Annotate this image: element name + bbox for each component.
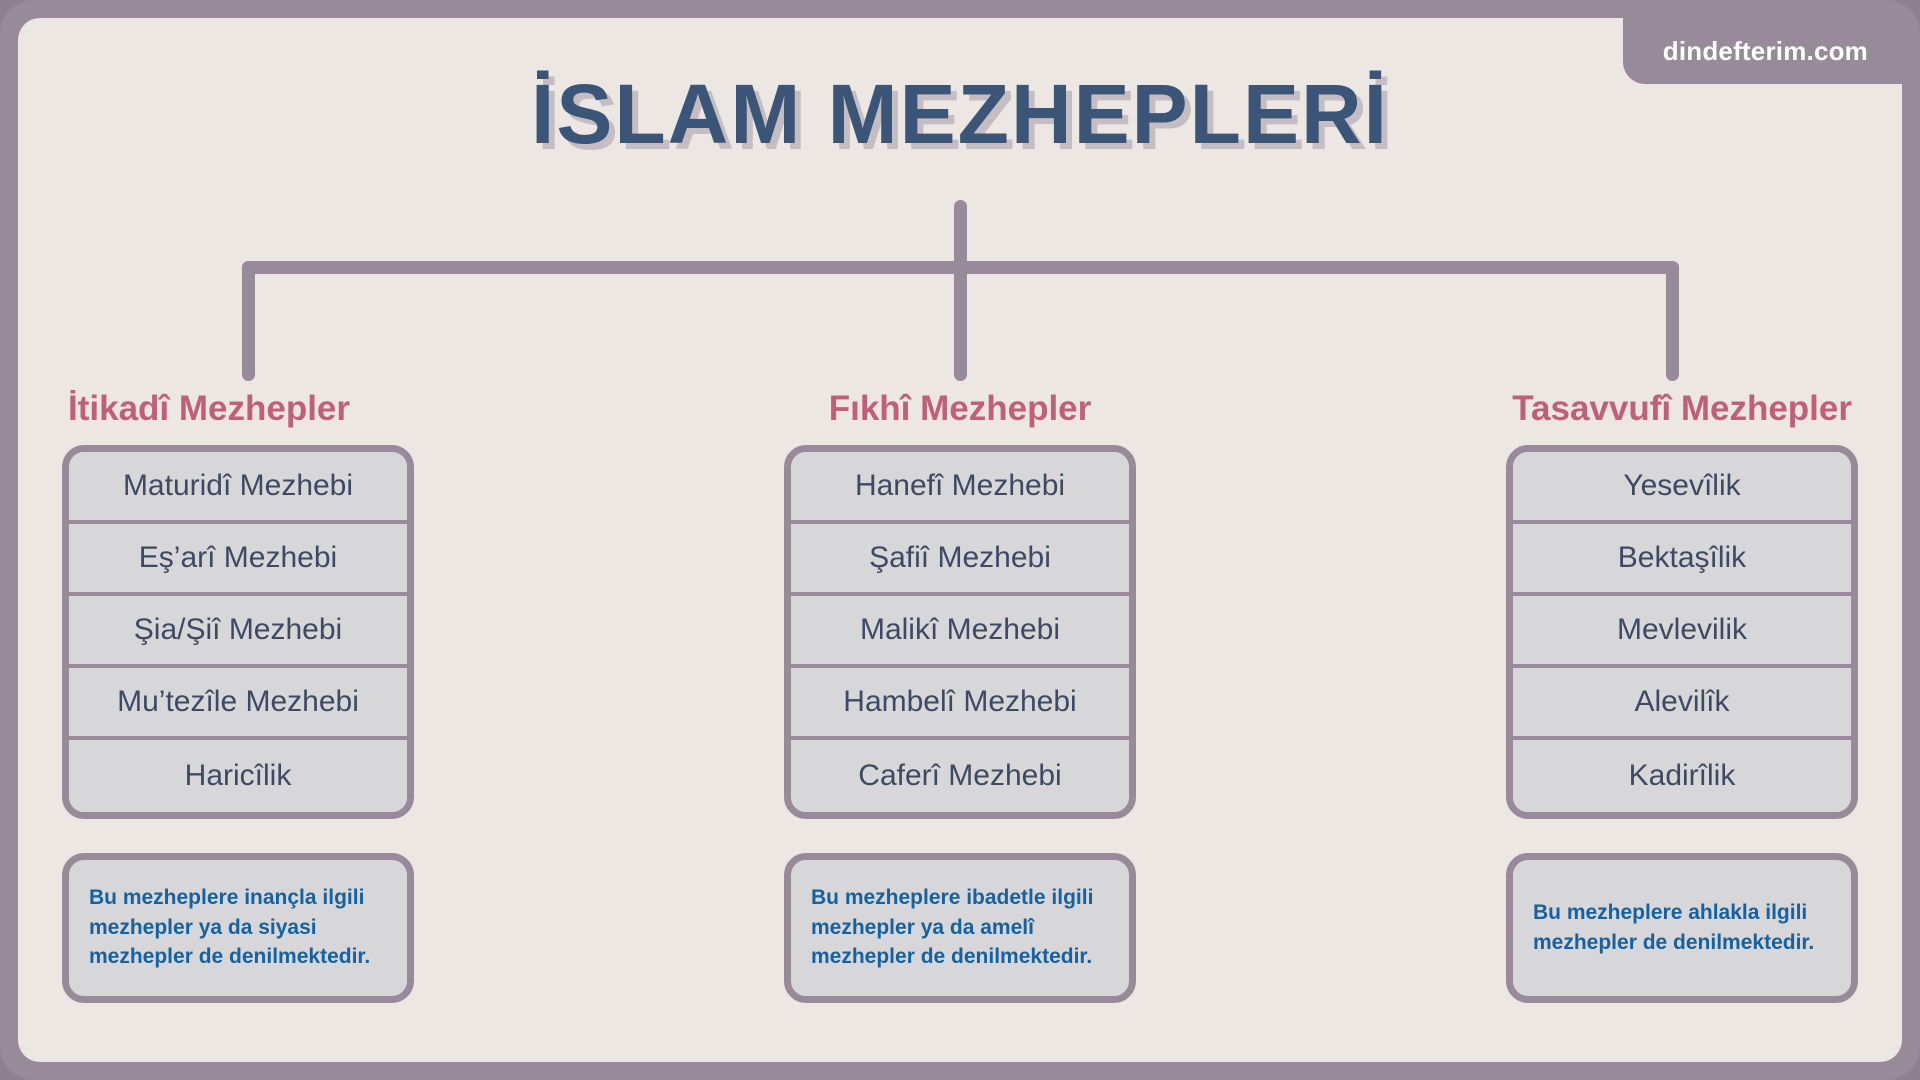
connector-drop-center: [954, 261, 967, 381]
list-item[interactable]: Şafiî Mezhebi: [791, 524, 1129, 596]
note-text: Bu mezheplere ibadetle ilgili mezhepler …: [811, 883, 1109, 972]
list-item[interactable]: Yesevîlik: [1513, 452, 1851, 524]
watermark-badge: dindefterim.com: [1623, 18, 1902, 84]
note-text: Bu mezheplere inançla ilgili mezhepler y…: [89, 883, 387, 972]
list-card-itikadi: Maturidî Mezhebi Eş’arî Mezhebi Şia/Şiî …: [62, 445, 414, 819]
list-item[interactable]: Bektaşîlik: [1513, 524, 1851, 596]
list-item[interactable]: Haricîlik: [69, 740, 407, 812]
note-card-itikadi: Bu mezheplere inançla ilgili mezhepler y…: [62, 853, 414, 1003]
list-item[interactable]: Maturidî Mezhebi: [69, 452, 407, 524]
list-item[interactable]: Hambelî Mezhebi: [791, 668, 1129, 740]
note-text: Bu mezheplere ahlakla ilgili mezhepler d…: [1533, 898, 1831, 958]
poster-frame: dindefterim.com İSLAM MEZHEPLERİ İtikadî…: [0, 0, 1920, 1080]
list-card-fikhi: Hanefî Mezhebi Şafiî Mezhebi Malikî Mezh…: [784, 445, 1136, 819]
watermark-label: dindefterim.com: [1663, 36, 1868, 67]
column-tasavvufi: Tasavvufî Mezhepler Yesevîlik Bektaşîlik…: [1500, 390, 1858, 1003]
column-fikhi: Fıkhî Mezhepler Hanefî Mezhebi Şafiî Mez…: [781, 390, 1139, 1003]
list-item[interactable]: Caferî Mezhebi: [791, 740, 1129, 812]
page-title: İSLAM MEZHEPLERİ: [18, 66, 1902, 163]
note-card-tasavvufi: Bu mezheplere ahlakla ilgili mezhepler d…: [1506, 853, 1858, 1003]
list-item[interactable]: Eş’arî Mezhebi: [69, 524, 407, 596]
column-header-tasavvufi: Tasavvufî Mezhepler: [1512, 390, 1852, 429]
list-item[interactable]: Şia/Şiî Mezhebi: [69, 596, 407, 668]
list-item[interactable]: Kadirîlik: [1513, 740, 1851, 812]
connector-drop-left: [242, 261, 255, 381]
list-card-tasavvufi: Yesevîlik Bektaşîlik Mevlevilik Alevilîk…: [1506, 445, 1858, 819]
column-itikadi: İtikadî Mezhepler Maturidî Mezhebi Eş’ar…: [62, 390, 420, 1003]
column-header-fikhi: Fıkhî Mezhepler: [829, 390, 1092, 429]
note-card-fikhi: Bu mezheplere ibadetle ilgili mezhepler …: [784, 853, 1136, 1003]
column-header-itikadi: İtikadî Mezhepler: [68, 390, 350, 429]
columns-container: İtikadî Mezhepler Maturidî Mezhebi Eş’ar…: [18, 390, 1902, 1003]
list-item[interactable]: Alevilîk: [1513, 668, 1851, 740]
poster-canvas: dindefterim.com İSLAM MEZHEPLERİ İtikadî…: [18, 18, 1902, 1062]
list-item[interactable]: Malikî Mezhebi: [791, 596, 1129, 668]
list-item[interactable]: Mu’tezîle Mezhebi: [69, 668, 407, 740]
list-item[interactable]: Mevlevilik: [1513, 596, 1851, 668]
connector-bus: [242, 261, 1679, 274]
connector-drop-right: [1666, 261, 1679, 381]
list-item[interactable]: Hanefî Mezhebi: [791, 452, 1129, 524]
connector-stem: [954, 200, 967, 380]
